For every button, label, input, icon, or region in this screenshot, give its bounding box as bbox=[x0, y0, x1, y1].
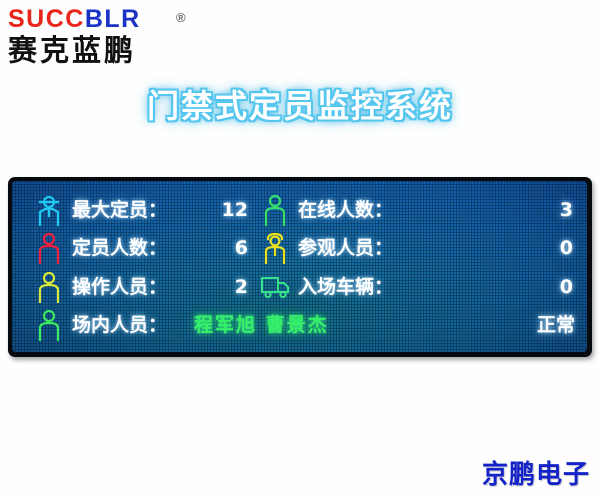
row-3-right-label: 入场车辆： bbox=[298, 276, 545, 298]
row-2: 定员人数： 6 参观人员： 0 bbox=[72, 229, 575, 267]
row-3-left-icon-cell bbox=[26, 268, 72, 306]
row-3-left-value: 2 bbox=[194, 276, 252, 298]
row-3: 操作人员： 2 入场车辆： 0 bbox=[72, 268, 575, 306]
slide-canvas: SUCCBLR ® 赛克蓝鹏 门禁式定员监控系统 bbox=[0, 0, 600, 500]
person-icon bbox=[37, 271, 61, 303]
person-hardhat-icon bbox=[36, 194, 62, 226]
row-4-label: 场内人员： bbox=[72, 314, 194, 336]
row-2-right-value: 0 bbox=[545, 237, 575, 259]
row-3-left-label: 操作人员： bbox=[72, 276, 194, 298]
person-icon bbox=[37, 309, 61, 341]
row-2-left-value: 6 bbox=[194, 237, 252, 259]
row-1: 最大定员： 12 在线人数： 3 bbox=[72, 191, 575, 229]
row-1-left-icon-cell bbox=[26, 191, 72, 229]
brand-wordmark: SUCCBLR ® bbox=[8, 6, 141, 32]
row-4-occupant-names: 程军旭 曹景杰 bbox=[194, 314, 505, 336]
row-1-right-value: 3 bbox=[545, 199, 575, 221]
footer-company-logo: 京鹏电子 bbox=[482, 460, 590, 490]
brand-logo: SUCCBLR ® 赛克蓝鹏 bbox=[8, 6, 141, 66]
led-display-panel: 最大定员： 12 在线人数： 3 bbox=[8, 177, 592, 357]
row-4: 场内人员： 程军旭 曹景杰 正常 bbox=[72, 306, 575, 344]
led-content-grid: 最大定员： 12 在线人数： 3 bbox=[12, 181, 587, 352]
brand-wordmark-succ: SUCC bbox=[8, 5, 85, 33]
row-2-right-icon-cell bbox=[252, 232, 298, 264]
person-icon bbox=[263, 194, 287, 226]
person-icon bbox=[37, 232, 61, 264]
row-1-left-label: 最大定员： bbox=[72, 199, 194, 221]
row-2-left-icon-cell bbox=[26, 229, 72, 267]
brand-wordmark-blr: BLR bbox=[85, 5, 141, 33]
page-title: 门禁式定员监控系统 bbox=[0, 86, 600, 126]
row-1-right-label: 在线人数： bbox=[298, 199, 545, 221]
row-2-left-label: 定员人数： bbox=[72, 237, 194, 259]
row-3-right-value: 0 bbox=[545, 276, 575, 298]
brand-chinese-name: 赛克蓝鹏 bbox=[8, 34, 141, 67]
row-2-right-label: 参观人员： bbox=[298, 237, 545, 259]
led-screen: 最大定员： 12 在线人数： 3 bbox=[12, 181, 587, 352]
row-1-left-value: 12 bbox=[194, 199, 252, 221]
registered-trademark-icon: ® bbox=[176, 11, 187, 24]
status-badge: 正常 bbox=[505, 314, 575, 336]
truck-icon bbox=[260, 275, 290, 299]
row-3-right-icon-cell bbox=[252, 275, 298, 299]
row-1-right-icon-cell bbox=[252, 194, 298, 226]
row-4-left-icon-cell bbox=[26, 306, 72, 344]
person-visitor-icon bbox=[262, 232, 288, 264]
